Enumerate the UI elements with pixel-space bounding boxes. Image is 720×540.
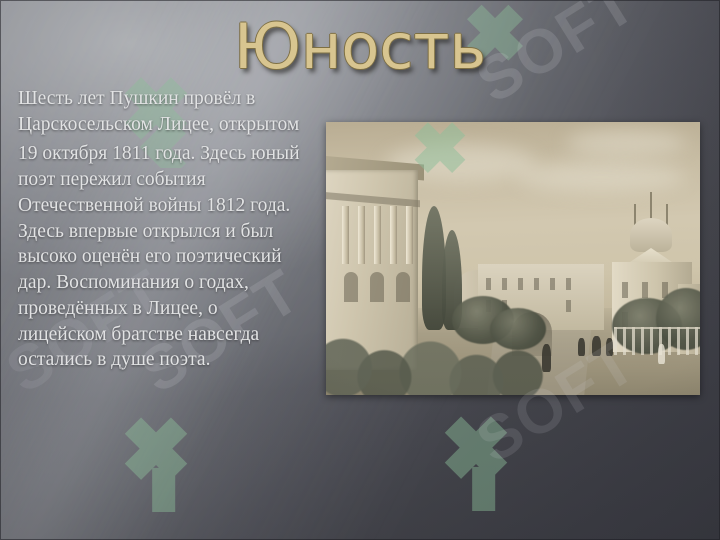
slide-border <box>0 0 720 540</box>
slide-canvas: SOFT SOFT Юность Шесть лет Пушкин провёл… <box>0 0 720 540</box>
